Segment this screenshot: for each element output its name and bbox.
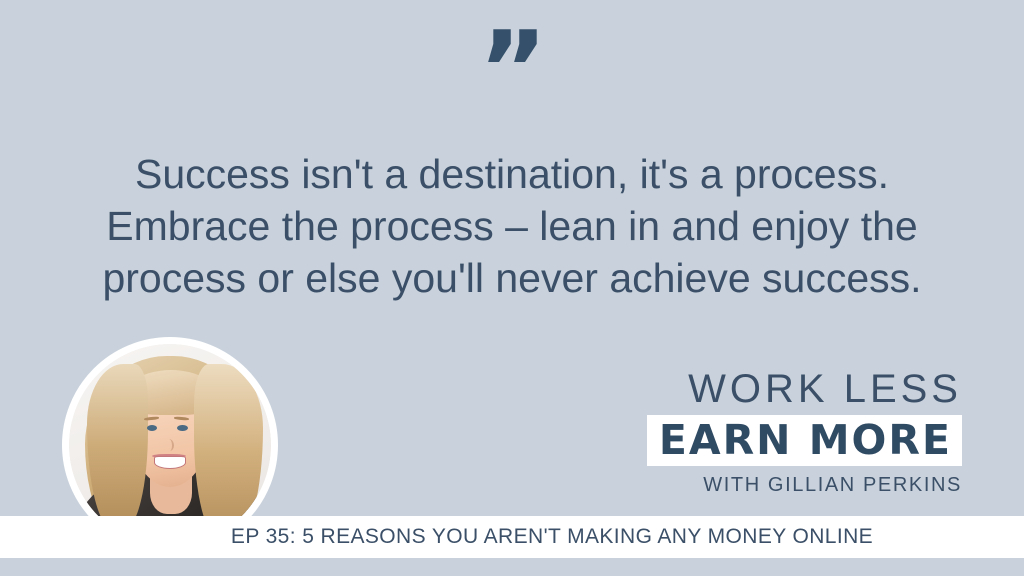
- quote-line-2: Embrace the process – lean in and enjoy …: [62, 200, 962, 252]
- brand-highlight-band: EARN MORE: [647, 415, 962, 466]
- episode-bar: EP 35: 5 REASONS YOU AREN'T MAKING ANY M…: [0, 516, 1024, 558]
- quote-mark-icon: ”: [0, 18, 1024, 123]
- brand-line-host: WITH GILLIAN PERKINS: [632, 473, 962, 497]
- avatar-eye-right: [177, 425, 188, 431]
- avatar-hair-left: [87, 364, 148, 530]
- brand-line-earn-more: EARN MORE: [659, 418, 952, 462]
- brand-line-work-less: WORK LESS: [632, 366, 962, 412]
- quote-line-1: Success isn't a destination, it's a proc…: [62, 148, 962, 200]
- brand-lockup: WORK LESS EARN MORE WITH GILLIAN PERKINS: [632, 366, 962, 497]
- avatar-eye-left: [147, 425, 158, 431]
- quote-line-3: process or else you'll never achieve suc…: [62, 252, 962, 304]
- avatar-nose: [165, 439, 174, 451]
- episode-title: EP 35: 5 REASONS YOU AREN'T MAKING ANY M…: [151, 525, 873, 549]
- podcast-quote-card: ” Success isn't a destination, it's a pr…: [0, 0, 1024, 576]
- quote-text-block: Success isn't a destination, it's a proc…: [62, 148, 962, 304]
- avatar-mouth: [154, 456, 186, 469]
